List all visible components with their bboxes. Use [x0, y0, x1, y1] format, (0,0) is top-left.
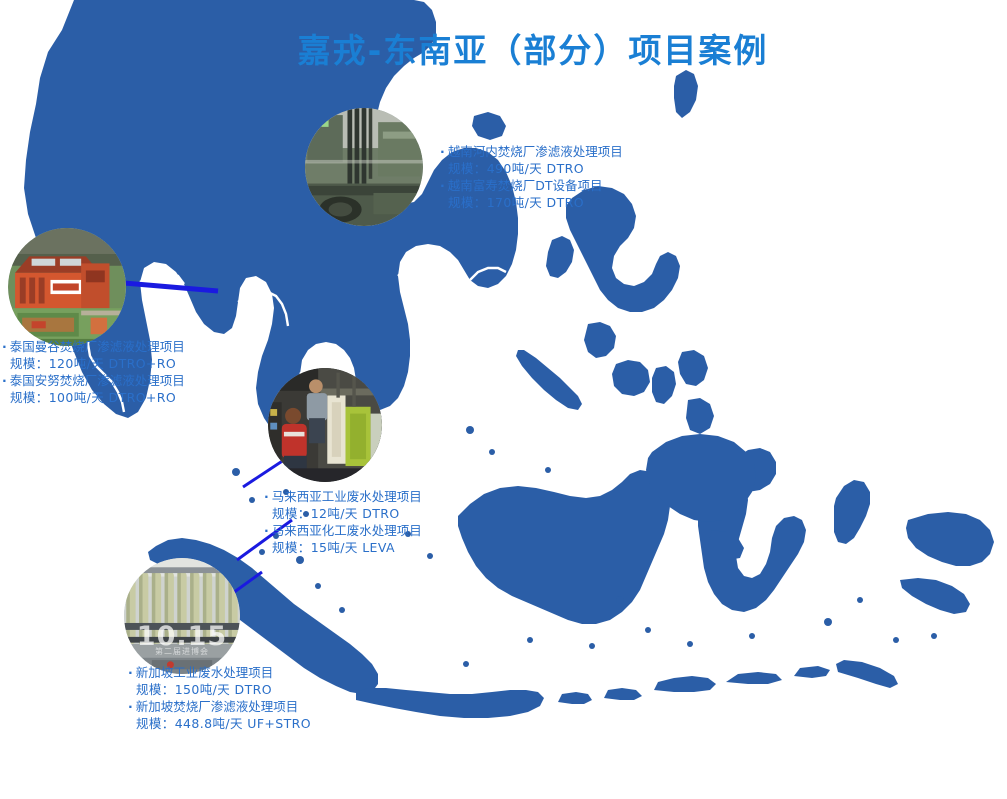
malaysia-caption: 马来西亚工业废水处理项目 规模：12吨/天 DTRO 马来西亚化工废水处理项目 …	[264, 488, 422, 556]
thailand-plant-photo[interactable]	[8, 228, 126, 346]
thailand-caption: 泰国曼谷焚烧厂渗滤液处理项目 规模：120吨/天 DTRO+RO 泰国安努焚烧厂…	[2, 338, 185, 406]
project-case-map-poster: 嘉戎-东南亚（部分）项目案例	[0, 0, 1007, 799]
singapore-plant-photo[interactable]: 10.15 第二届进博会	[124, 558, 240, 674]
malaysia-project-2-name: 马来西亚化工废水处理项目	[264, 522, 422, 539]
singapore-caption: 新加坡工业废水处理项目 规模：150吨/天 DTRO 新加坡焚烧厂渗滤液处理项目…	[128, 664, 311, 732]
thailand-project-1-name: 泰国曼谷焚烧厂渗滤液处理项目	[2, 338, 185, 355]
thailand-project-2-name: 泰国安努焚烧厂渗滤液处理项目	[2, 372, 185, 389]
malaysia-project-1-name: 马来西亚工业废水处理项目	[264, 488, 422, 505]
vietnam-project-1-spec: 规模：490吨/天 DTRO	[440, 160, 623, 177]
vietnam-project-2-spec: 规模：170吨/天 DTRO	[440, 194, 623, 211]
malaysia-project-2-spec: 规模：15吨/天 LEVA	[264, 539, 422, 556]
singapore-project-2-spec: 规模：448.8吨/天 UF+STRO	[128, 715, 311, 732]
malaysia-project-1-spec: 规模：12吨/天 DTRO	[264, 505, 422, 522]
singapore-project-2-name: 新加坡焚烧厂渗滤液处理项目	[128, 698, 311, 715]
vietnam-caption: 越南河内焚烧厂渗滤液处理项目 规模：490吨/天 DTRO 越南富寿焚烧厂DT设…	[440, 143, 623, 211]
page-title: 嘉戎-东南亚（部分）项目案例	[253, 24, 813, 72]
vietnam-project-2-name: 越南富寿焚烧厂DT设备项目	[440, 177, 623, 194]
vietnam-plant-photo[interactable]	[305, 108, 423, 226]
singapore-project-1-spec: 规模：150吨/天 DTRO	[128, 681, 311, 698]
thailand-project-1-spec: 规模：120吨/天 DTRO+RO	[2, 355, 185, 372]
vietnam-project-1-name: 越南河内焚烧厂渗滤液处理项目	[440, 143, 623, 160]
malaysia-plant-photo[interactable]	[268, 368, 382, 482]
thailand-project-2-spec: 规模：100吨/天 DTRO+RO	[2, 389, 185, 406]
singapore-project-1-name: 新加坡工业废水处理项目	[128, 664, 311, 681]
